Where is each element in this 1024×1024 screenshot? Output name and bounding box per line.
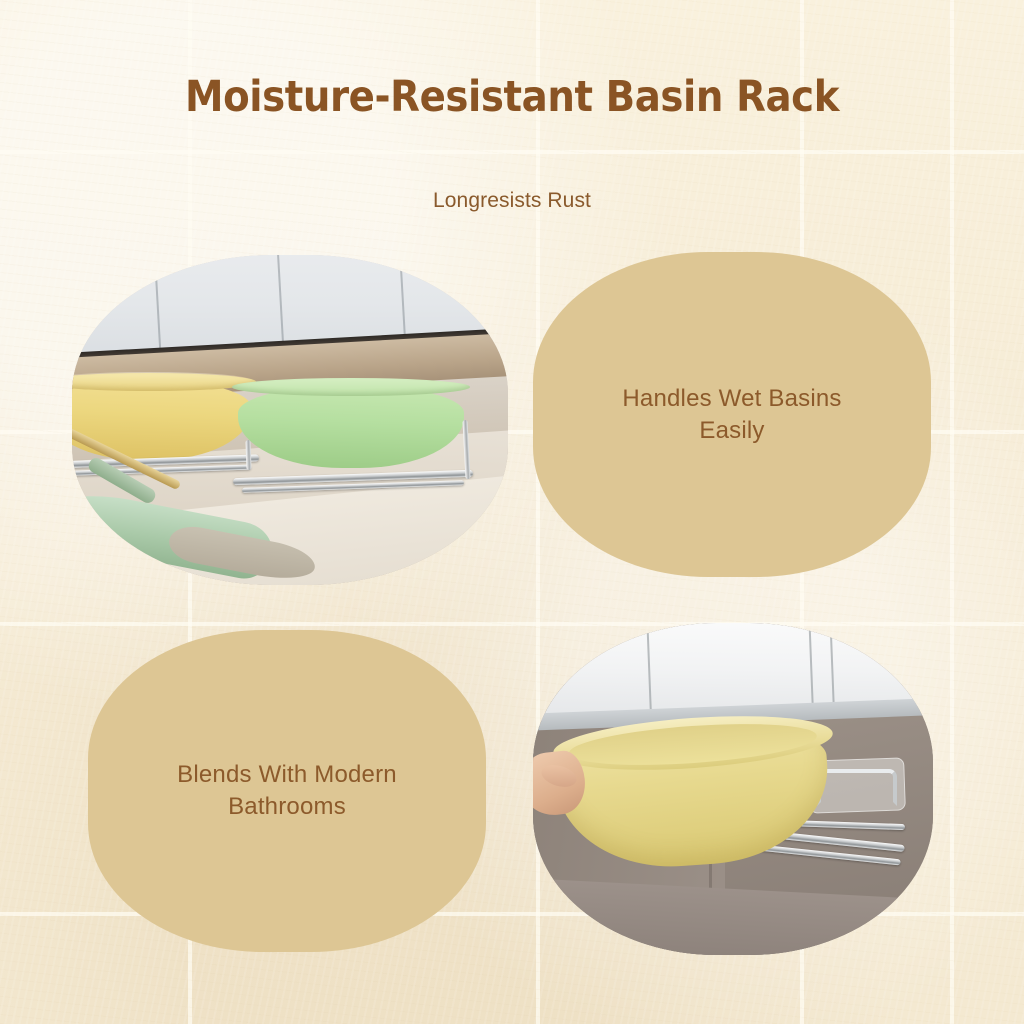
- feature-caption-line: Bathrooms: [177, 791, 397, 823]
- product-photo-hand-placing-basin: [533, 623, 933, 955]
- feature-caption-line: Handles Wet Basins: [622, 383, 841, 415]
- cabinet-seam: [647, 623, 653, 716]
- infographic-page: Moisture-Resistant Basin Rack Longresist…: [0, 0, 1024, 1024]
- cabinet-seam: [275, 255, 284, 354]
- feature-caption-line: Easily: [622, 415, 841, 447]
- feature-card-blends-with-modern-bathrooms: Blends With Modern Bathrooms: [88, 630, 486, 952]
- feature-caption: Blends With Modern Bathrooms: [177, 759, 397, 822]
- cabinet-seam: [829, 623, 835, 709]
- feature-caption-line: Blends With Modern: [177, 759, 397, 791]
- cabinet-seam: [153, 255, 162, 361]
- tile-grid-line-horizontal: [0, 150, 1024, 154]
- product-photo-basins-on-racks: [72, 255, 508, 585]
- chrome-rack-hoop: [817, 769, 897, 806]
- cabinet-knob: [117, 255, 138, 262]
- feature-card-handles-wet-basins: Handles Wet Basins Easily: [533, 252, 931, 577]
- page-subtitle: Longresists Rust: [0, 189, 1024, 213]
- basin-rim: [72, 373, 256, 390]
- tile-grid-line-vertical: [950, 0, 954, 1024]
- basin-rim: [232, 378, 470, 396]
- feature-caption: Handles Wet Basins Easily: [622, 383, 841, 446]
- cabinet-seam: [808, 623, 814, 710]
- page-title: Moisture-Resistant Basin Rack: [0, 72, 1024, 122]
